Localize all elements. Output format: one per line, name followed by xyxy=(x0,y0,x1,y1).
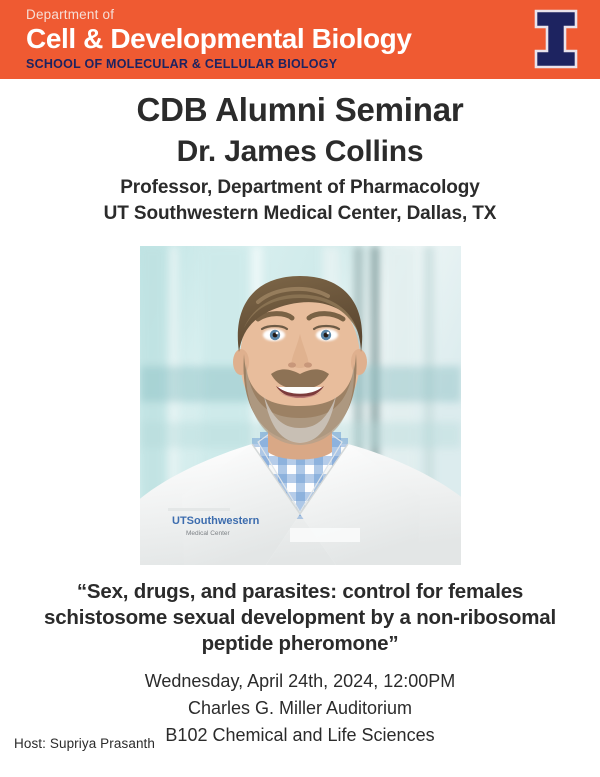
illinois-block-i-icon xyxy=(532,8,580,70)
speaker-name: Dr. James Collins xyxy=(0,133,600,171)
talk-title: “Sex, drugs, and parasites: control for … xyxy=(22,579,578,657)
host-label: Host: Supriya Prasanth xyxy=(14,735,155,752)
speaker-affiliation-line-1: Professor, Department of Pharmacology xyxy=(0,175,600,201)
speaker-portrait-image: UTSouthwestern Medical Center xyxy=(140,246,461,565)
speaker-affiliation-line-2: UT Southwestern Medical Center, Dallas, … xyxy=(0,201,600,227)
svg-text:Medical Center: Medical Center xyxy=(186,530,231,537)
poster-body: CDB Alumni Seminar Dr. James Collins Pro… xyxy=(0,79,600,777)
department-header-banner: Department of Cell & Developmental Biolo… xyxy=(0,0,600,79)
school-name-label: SCHOOL OF MOLECULAR & CELLULAR BIOLOGY xyxy=(26,56,412,72)
svg-text:UTSouthwestern: UTSouthwestern xyxy=(172,515,260,527)
event-datetime: Wednesday, April 24th, 2024, 12:00PM xyxy=(0,668,600,695)
seminar-series-title: CDB Alumni Seminar xyxy=(0,90,600,130)
department-eyebrow-label: Department of xyxy=(26,6,412,23)
department-name-title: Cell & Developmental Biology xyxy=(26,22,412,55)
speaker-portrait: UTSouthwestern Medical Center xyxy=(140,246,461,565)
header-text-block: Department of Cell & Developmental Biolo… xyxy=(26,6,412,72)
event-venue: Charles G. Miller Auditorium xyxy=(0,695,600,722)
